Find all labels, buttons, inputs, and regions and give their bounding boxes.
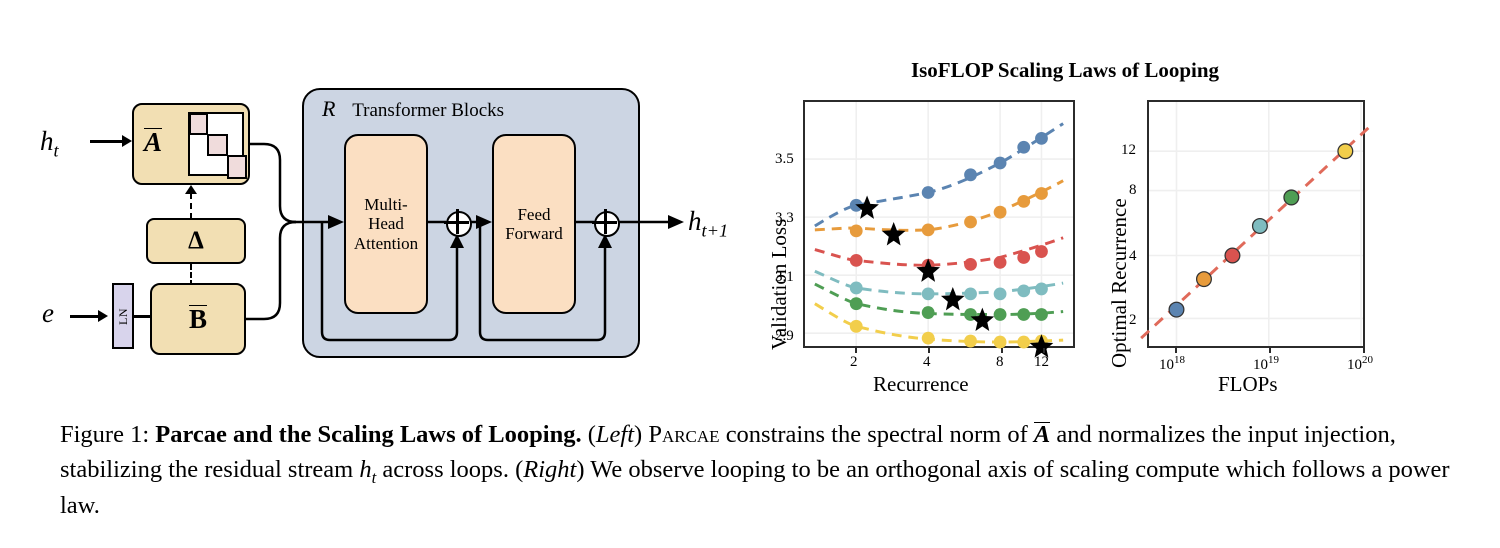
recurrence-ytick-12: 12	[1121, 142, 1136, 159]
recurrence-x-axis-title: FLOPs	[1218, 372, 1278, 397]
isoflop-xtick-8: 8	[996, 354, 1004, 371]
isoflop-ytick-3-3: 3.3	[775, 210, 794, 227]
caption-left-tag: Left	[596, 421, 634, 448]
isoflop-xtick-2: 2	[850, 354, 858, 371]
architecture-diagram: ht A Δ e LN	[40, 78, 740, 378]
isoflop-xtickmark-4	[928, 348, 930, 353]
caption-text-3: across loops.	[382, 456, 509, 483]
recurrence-xtickmark-1e20	[1363, 348, 1365, 353]
recurrence-plot-canvas	[1149, 102, 1363, 346]
isoflop-x-axis-title: Recurrence	[873, 372, 969, 397]
recurrence-plot-frame	[1147, 100, 1365, 348]
caption-model-name: Parcae	[648, 421, 719, 448]
isoflop-xtick-12: 12	[1034, 354, 1049, 371]
isoflop-xtickmark-12	[1043, 348, 1045, 353]
isoflop-xtickmark-2	[855, 348, 857, 353]
recurrence-xtick-1e20: 1020	[1347, 354, 1373, 374]
caption-text-1: constrains the spectral norm of	[726, 421, 1028, 448]
hidden-state-output-label: ht+1	[688, 206, 728, 241]
figure-region: ht A Δ e LN	[0, 0, 1500, 400]
residual-add-1-icon	[446, 211, 472, 237]
recurrence-ytick-4: 4	[1129, 248, 1137, 265]
charts-region: IsoFLOP Scaling Laws of Looping Validati…	[745, 58, 1385, 388]
recurrence-xtick-1e18: 1018	[1159, 354, 1185, 374]
chart-title: IsoFLOP Scaling Laws of Looping	[745, 58, 1385, 83]
isoflop-chart: Validation Loss 3.5 3.3 3.1 2.9	[745, 100, 1080, 388]
optimal-recurrence-chart: Optimal Recurrence 12 8 4 2	[1085, 100, 1385, 388]
caption-figure-number: Figure 1:	[60, 421, 149, 448]
isoflop-ytick-3-1: 3.1	[775, 269, 794, 286]
isoflop-plot-frame	[803, 100, 1075, 348]
recurrence-y-axis-title: Optimal Recurrence	[1107, 198, 1132, 368]
isoflop-xtick-4: 4	[923, 354, 931, 371]
caption-matrix-symbol: A	[1034, 422, 1050, 448]
recurrence-xtick-1e19: 1019	[1253, 354, 1279, 374]
caption-right-tag: Right	[523, 456, 576, 483]
caption-hidden-subscript: t	[372, 468, 377, 487]
isoflop-plot-canvas	[805, 102, 1073, 346]
recurrence-xtickmark-1e18	[1175, 348, 1177, 353]
isoflop-xtickmark-8	[1001, 348, 1003, 353]
figure-caption: Figure 1: Parcae and the Scaling Laws of…	[60, 418, 1455, 524]
residual-wiring	[40, 78, 740, 378]
residual-add-2-icon	[594, 211, 620, 237]
caption-bold-title: Parcae and the Scaling Laws of Looping.	[155, 421, 581, 448]
isoflop-ytick-2-9: 2.9	[775, 328, 794, 345]
caption-hidden-symbol: h	[359, 456, 371, 483]
recurrence-xtickmark-1e19	[1269, 348, 1271, 353]
recurrence-ytick-2: 2	[1129, 312, 1137, 329]
recurrence-ytick-8: 8	[1129, 182, 1137, 199]
isoflop-ytick-3-5: 3.5	[775, 151, 794, 168]
